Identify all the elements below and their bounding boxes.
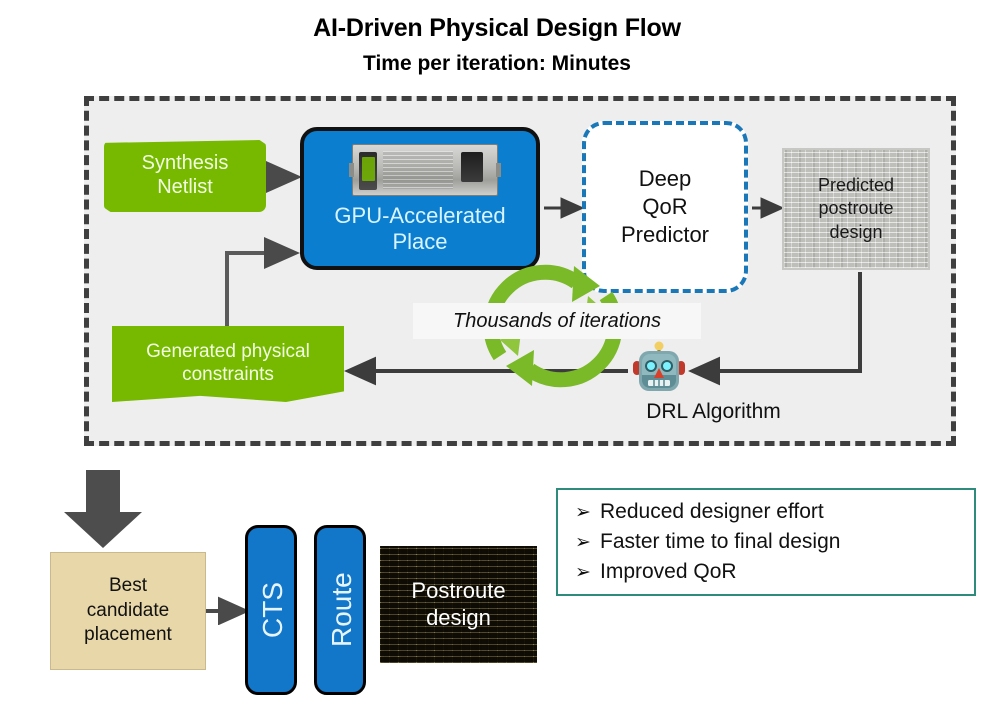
gpu-place-line1: GPU-Accelerated bbox=[304, 203, 536, 228]
robot-head-icon bbox=[631, 341, 687, 397]
best-candidate-placement-box[interactable]: Best candidate placement bbox=[50, 552, 206, 670]
benefit-label-1: Reduced designer effort bbox=[600, 497, 824, 527]
benefits-panel: ➢ Reduced designer effort ➢ Faster time … bbox=[556, 488, 976, 596]
predicted-design-line2: postroute bbox=[818, 197, 894, 220]
page-title: AI-Driven Physical Design Flow bbox=[0, 14, 994, 43]
server-tab-right bbox=[496, 163, 501, 177]
synthesis-netlist-line1: Synthesis bbox=[142, 151, 229, 175]
qor-predictor-line1: Deep bbox=[621, 165, 709, 193]
bullet-arrow-icon: ➢ bbox=[566, 560, 600, 587]
generated-constraints-line2: constraints bbox=[146, 364, 310, 387]
postroute-line1: Postroute bbox=[411, 578, 505, 604]
predicted-design-line1: Predicted bbox=[818, 174, 894, 197]
benefit-item-1: ➢ Reduced designer effort bbox=[566, 497, 974, 527]
server-vent bbox=[383, 151, 453, 189]
generated-constraints-line1: Generated physical bbox=[146, 341, 310, 364]
page-subtitle: Time per iteration: Minutes bbox=[0, 52, 994, 76]
synthesis-netlist-box[interactable]: Synthesis Netlist bbox=[104, 140, 266, 212]
benefit-label-2: Faster time to final design bbox=[600, 527, 840, 557]
best-candidate-line1: Best bbox=[84, 574, 172, 599]
gpu-place-line2: Place bbox=[304, 229, 536, 254]
bullet-arrow-icon: ➢ bbox=[566, 530, 600, 557]
gpu-place-label: GPU-Accelerated Place bbox=[304, 203, 536, 254]
generated-physical-constraints-box[interactable]: Generated physical constraints bbox=[112, 326, 344, 402]
gpu-accelerated-place-box[interactable]: GPU-Accelerated Place bbox=[300, 127, 540, 270]
bullet-arrow-icon: ➢ bbox=[566, 500, 600, 527]
iterations-label: Thousands of iterations bbox=[413, 303, 701, 339]
route-box[interactable]: Route bbox=[314, 525, 366, 695]
predicted-postroute-design-box[interactable]: Predicted postroute design bbox=[782, 148, 930, 270]
qor-predictor-line3: Predictor bbox=[621, 221, 709, 249]
server-tab-left bbox=[349, 163, 354, 177]
benefit-item-2: ➢ Faster time to final design bbox=[566, 527, 974, 557]
cts-box[interactable]: CTS bbox=[245, 525, 297, 695]
predicted-design-line3: design bbox=[818, 221, 894, 244]
synthesis-netlist-line2: Netlist bbox=[142, 175, 229, 199]
benefit-label-3: Improved QoR bbox=[600, 557, 737, 587]
postroute-design-image[interactable]: Postroute design bbox=[380, 546, 537, 663]
postroute-line2: design bbox=[411, 605, 505, 631]
best-candidate-line3: placement bbox=[84, 623, 172, 648]
best-candidate-line2: candidate bbox=[84, 599, 172, 624]
route-label: Route bbox=[317, 528, 363, 692]
qor-predictor-line2: QoR bbox=[621, 193, 709, 221]
benefit-item-3: ➢ Improved QoR bbox=[566, 557, 974, 587]
drl-algorithm-label: DRL Algorithm bbox=[601, 400, 826, 424]
server-rack-icon bbox=[352, 144, 498, 196]
cts-label: CTS bbox=[248, 528, 294, 692]
nvidia-badge-icon bbox=[362, 157, 375, 181]
down-arrow-icon bbox=[62, 470, 144, 548]
